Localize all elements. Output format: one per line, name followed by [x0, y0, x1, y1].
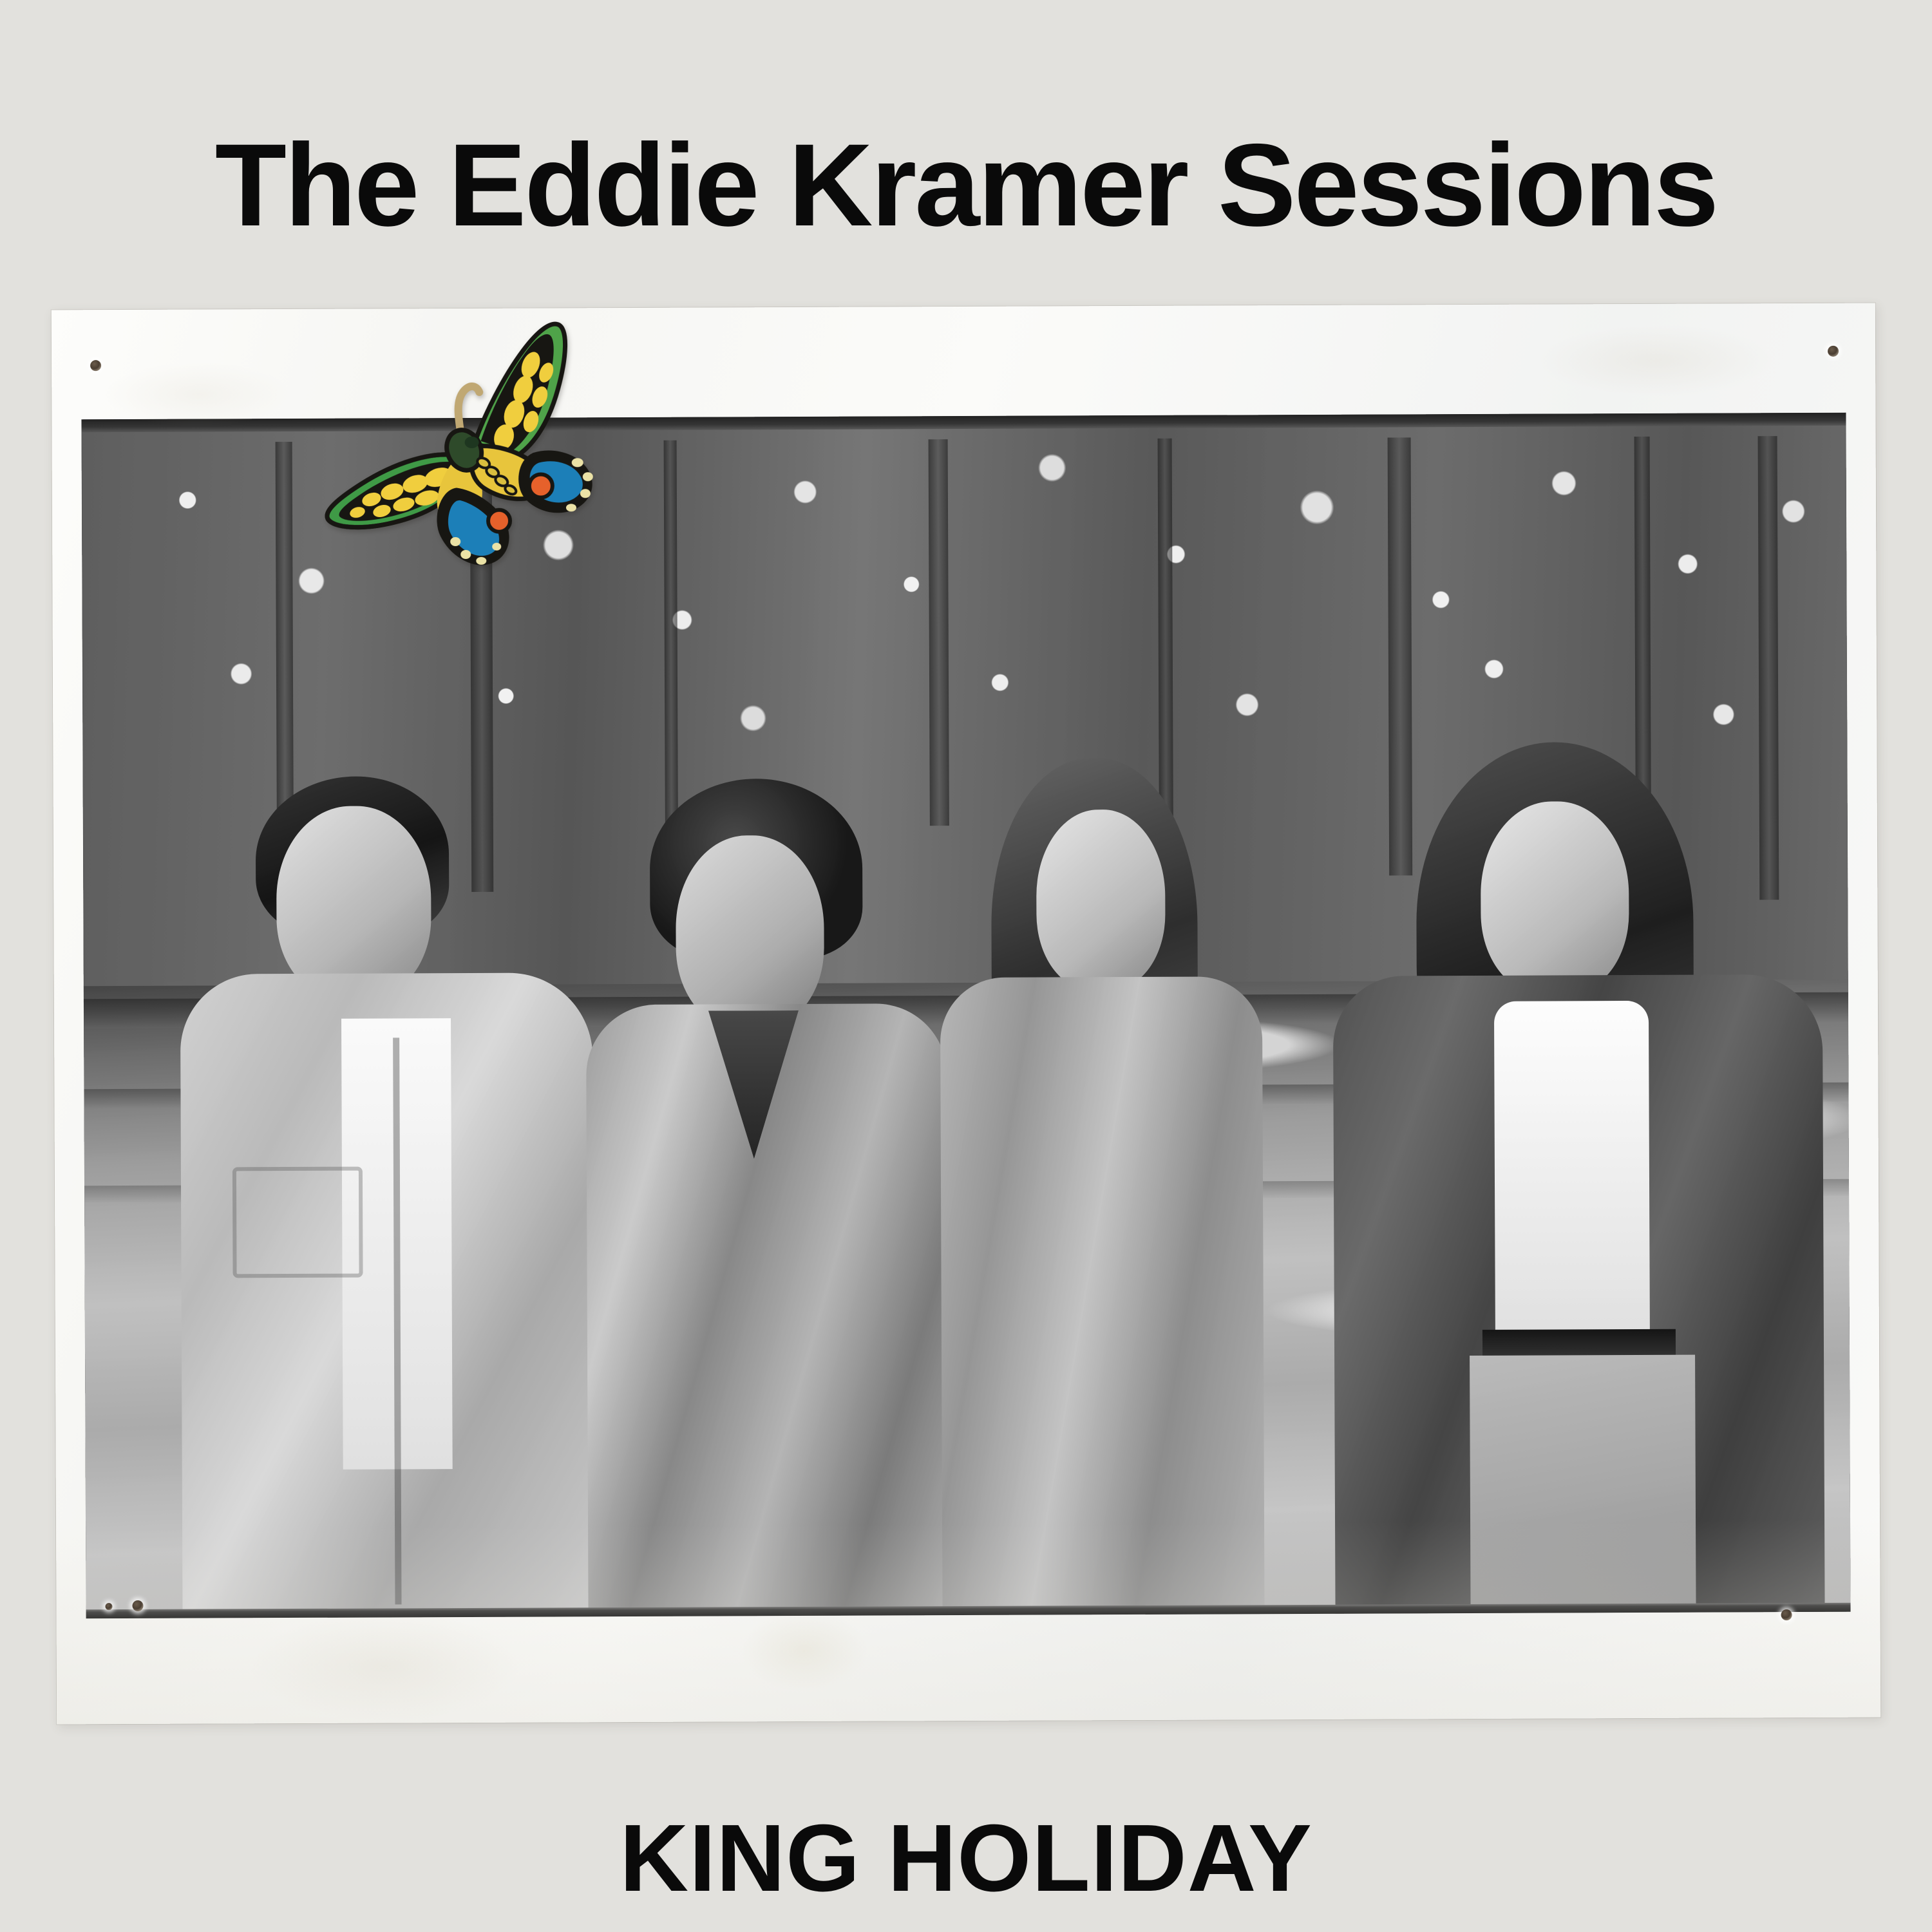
jeans: [1470, 1355, 1696, 1613]
belt: [1482, 1329, 1676, 1357]
face: [1481, 801, 1629, 995]
face: [276, 806, 431, 999]
band-photograph: [81, 413, 1850, 1619]
photo-paper-poster: [52, 303, 1880, 1725]
pin-hole: [90, 360, 101, 371]
artist-name: KING HOLIDAY: [0, 1811, 1932, 1906]
chest-pocket: [232, 1167, 363, 1278]
page-title: The Eddie Kramer Sessions: [0, 126, 1932, 243]
band-member-1: [179, 760, 594, 1618]
white-tee: [1494, 1001, 1650, 1336]
pin-hole: [1781, 1609, 1792, 1620]
pin-hole: [1828, 346, 1839, 357]
album-cover: The Eddie Kramer Sessions: [0, 0, 1932, 1932]
face: [676, 835, 824, 1029]
band-member-3: [940, 764, 1265, 1615]
denim-vest: [940, 976, 1265, 1615]
band-member-4: [1332, 749, 1824, 1614]
face: [1036, 810, 1166, 990]
swallowtail-butterfly-icon: [318, 317, 622, 583]
pin-hole: [132, 1600, 143, 1611]
photograph-scene: [81, 413, 1850, 1619]
band-member-2: [585, 778, 949, 1616]
pin-hole: [106, 1603, 113, 1610]
